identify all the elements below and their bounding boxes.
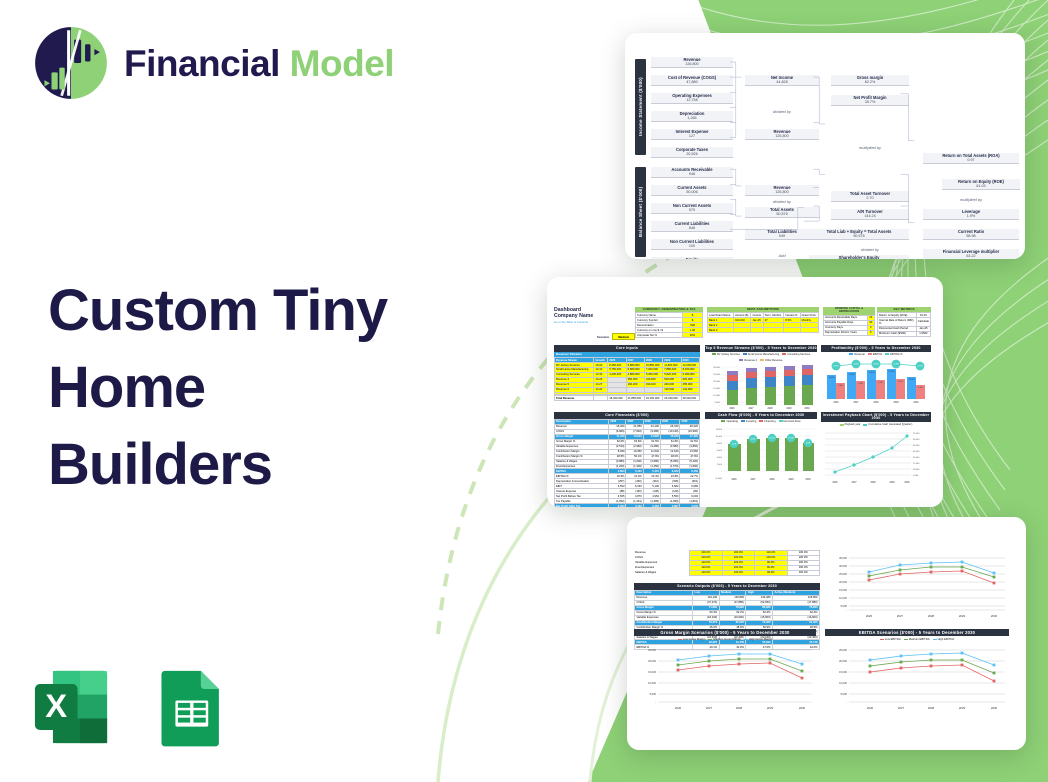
gross-margin-scenarios-chart: Gross Margin Scenarios ($'000) - 5 Years… (634, 629, 816, 717)
row-label: Net Profit After Tax (555, 504, 609, 507)
svg-text:4,404: 4,404 (732, 443, 737, 445)
working-capital-panel: WORKING CAPITAL & DEPRECIATION Accounts … (823, 307, 875, 336)
scenario-inputs-table: Revenue 100.0% 100.0% 110.0% 100.0% COGS… (634, 550, 820, 576)
svg-text:28,320: 28,320 (909, 379, 915, 381)
gross-margin-plot: 25,00020,00015,000 10,0005,000- 20262027… (634, 642, 816, 712)
svg-text:20.9%: 20.9% (833, 365, 839, 367)
svg-text:5,000: 5,000 (650, 692, 657, 696)
row-value: 3,409 (626, 504, 643, 507)
flow-box-return-on-equity: Return on Equity (ROE) 61.03 (942, 179, 1020, 190)
row-value: 3,466 (643, 504, 660, 507)
key-metrics-panel: KEY METRICS Return on Equity (ROE)61.03 … (877, 307, 931, 337)
svg-text:-: - (846, 701, 847, 704)
svg-text:5,000: 5,000 (841, 692, 848, 696)
brand-name: Financial Model (124, 45, 394, 82)
svg-text:15,000: 15,000 (648, 670, 656, 674)
row-value: 2,453 (609, 504, 626, 507)
svg-text:2030: 2030 (805, 479, 811, 481)
svg-text:12,000: 12,000 (716, 429, 723, 431)
row-value: 3,887 (660, 504, 680, 507)
svg-text:2026: 2026 (675, 706, 682, 710)
brand-name-part2: Model (290, 43, 394, 84)
scenario-selector[interactable]: Scenario Medium (597, 333, 635, 340)
svg-text:2029: 2029 (959, 614, 966, 618)
revenue-streams-chart: Top 5 Revenue Streams ($'000) - 5 Years … (705, 345, 817, 416)
svg-text:2026: 2026 (729, 408, 735, 410)
svg-text:21,850: 21,850 (849, 374, 855, 376)
svg-text:(2,000): (2,000) (715, 478, 722, 480)
svg-text:22.8%: 22.8% (893, 363, 899, 365)
flow-operator: Add (745, 253, 819, 258)
svg-text:54,000: 54,000 (913, 445, 920, 447)
svg-text:6,450: 6,450 (918, 387, 923, 389)
svg-text:27,000: 27,000 (913, 463, 920, 465)
svg-text:20,000: 20,000 (839, 659, 847, 663)
svg-text:20,000: 20,000 (713, 381, 720, 383)
svg-text:4,338: 4,338 (806, 442, 811, 444)
svg-text:20,000: 20,000 (839, 580, 847, 584)
svg-text:10,000: 10,000 (648, 681, 656, 685)
svg-text:5,000: 5,000 (715, 402, 721, 404)
svg-text:45,000: 45,000 (913, 451, 920, 453)
table-row: Net Profit After Tax2,4533,4093,4663,887… (555, 504, 700, 507)
svg-text:2028: 2028 (870, 482, 876, 484)
svg-text:-: - (655, 701, 656, 704)
cash-flow-chart: Cash Flow ($'000) - 5 Years to December … (705, 412, 817, 489)
svg-text:2030: 2030 (799, 706, 806, 710)
svg-text:2029: 2029 (786, 408, 792, 410)
svg-text:22.4%: 22.4% (873, 363, 879, 365)
dashboard-sheet: Dashboard Company Name Go to the Table o… (547, 277, 943, 507)
working-capital-table: Accounts Receivable Days15 Accounts Paya… (823, 315, 875, 336)
dashboard-screenshot[interactable]: Dashboard Company Name Go to the Table o… (547, 277, 943, 507)
svg-text:15,438: 15,438 (788, 437, 794, 439)
svg-text:20,000: 20,000 (648, 659, 656, 663)
scenario-value[interactable]: Medium (612, 333, 635, 340)
row-value: 4,202 (680, 504, 700, 507)
flowchart-canvas: Income Statement ($'000) Balance Sheet (… (635, 57, 1015, 237)
flow-box: Non Current Liabilities 100 (651, 239, 733, 250)
svg-text:6,020: 6,020 (898, 381, 903, 383)
currency-panel: CURRENCY, DENOMINATION & TAX Currency Na… (635, 307, 703, 338)
svg-text:2027: 2027 (748, 408, 754, 410)
svg-text:15,000: 15,000 (839, 588, 847, 592)
flow-box: Financial Leverage multiplier 63.22 (923, 249, 1019, 259)
svg-text:8,000: 8,000 (717, 443, 723, 445)
svg-text:22.7%: 22.7% (917, 365, 923, 367)
svg-text:2026: 2026 (833, 402, 839, 404)
svg-text:10,000: 10,000 (716, 436, 723, 438)
svg-text:2029: 2029 (959, 706, 966, 710)
svg-text:10,000: 10,000 (713, 395, 720, 397)
svg-text:18,000: 18,000 (913, 469, 920, 471)
ebitda-plot: 25,00020,00015,000 10,0005,000- 20262027… (825, 642, 1009, 712)
svg-text:2029: 2029 (788, 479, 794, 481)
ebitda-scenarios-chart: EBITDA Scenarios ($'000) - 5 Years to De… (825, 629, 1009, 717)
scenarios-screenshot[interactable]: Revenue 100.0% 100.0% 110.0% 100.0% COGS… (627, 517, 1026, 750)
revenue-scenarios-chart: 35,00030,00025,000 20,00015,00010,000 5,… (827, 550, 1009, 625)
svg-text:15,000: 15,000 (713, 388, 720, 390)
svg-text:24.3%: 24.3% (853, 363, 859, 365)
svg-text:4,000: 4,000 (717, 457, 723, 459)
svg-text:2027: 2027 (898, 706, 905, 710)
svg-text:2027: 2027 (897, 614, 904, 618)
svg-text:2029: 2029 (893, 402, 899, 404)
svg-text:10,000: 10,000 (839, 596, 847, 600)
svg-text:18,400: 18,400 (829, 377, 835, 379)
svg-text:2028: 2028 (767, 408, 773, 410)
microsoft-excel-icon: X (30, 666, 112, 748)
headline-line-2: Home (48, 349, 468, 426)
svg-text:2027: 2027 (706, 706, 713, 710)
table-of-contents-link[interactable]: Go to the Table of Contents (554, 320, 593, 324)
svg-text:-: - (719, 405, 720, 407)
revenue-streams-plot: 30,00025,00020,000 15,00010,0005,000 - 2… (705, 363, 817, 411)
profitability-plot: 20.9%24.3%22.4% 22.8%22.7% 18,4003,850 2… (821, 357, 931, 405)
svg-text:30,000: 30,000 (839, 564, 847, 568)
debt-table: Loan/Grant Name Amount ($) Counts Term, … (707, 312, 819, 333)
svg-text:2029: 2029 (889, 482, 895, 484)
debt-panel: DEBT ASSUMPTIONS Loan/Grant Name Amount … (707, 307, 819, 333)
svg-text:9,000: 9,000 (913, 475, 919, 477)
svg-text:30,000: 30,000 (713, 367, 720, 369)
svg-text:2028: 2028 (928, 706, 935, 710)
svg-text:8,104: 8,104 (751, 438, 756, 440)
svg-text:26,340: 26,340 (889, 371, 895, 373)
core-financials-rows: Revenue18,40021,85024,10026,34028,320COG… (555, 424, 700, 507)
pie-bars-circle-logo-icon (32, 24, 110, 102)
svg-text:2030: 2030 (991, 706, 998, 710)
core-financials-block: Core Financials ($'000) Description 2026… (554, 412, 700, 507)
svg-text:2028: 2028 (769, 479, 775, 481)
svg-text:2026: 2026 (731, 479, 737, 481)
svg-text:2027: 2027 (851, 482, 857, 484)
svg-text:2026: 2026 (832, 482, 838, 484)
svg-text:2030: 2030 (804, 408, 810, 410)
flow-connectors (635, 57, 1015, 237)
svg-text:5,000: 5,000 (841, 604, 848, 608)
svg-text:3,850: 3,850 (838, 385, 843, 387)
brand-logo: Financial Model (32, 24, 394, 102)
svg-text:5,410: 5,410 (878, 382, 883, 384)
svg-text:24,100: 24,100 (869, 372, 875, 374)
svg-text:2028: 2028 (736, 706, 743, 710)
svg-text:25,000: 25,000 (713, 374, 720, 376)
core-inputs-block: Core Inputs Revenue Streams Revenue Stre… (554, 345, 700, 401)
flow-operator: divided by (831, 247, 909, 252)
core-financials-table: Description 2026 2027 2028 2029 2030 Rev… (554, 419, 700, 507)
chart-legend: RV Jockey Services Small Home Manufactur… (705, 352, 817, 363)
investment-payback-plot: 72,00063,00054,000 45,00036,00027,000 18… (821, 427, 931, 487)
svg-text:63,000: 63,000 (913, 439, 920, 441)
brand-name-part1: Financial (124, 43, 280, 84)
svg-text:2028: 2028 (873, 402, 879, 404)
svg-text:5,320: 5,320 (858, 383, 863, 385)
svg-text:2030: 2030 (991, 614, 998, 618)
cash-flow-plot: 12,00010,0008,000 6,0004,0002,000 -(2,00… (705, 424, 817, 484)
flow-box: Equity 49,628 (651, 257, 733, 259)
svg-text:2028: 2028 (928, 614, 935, 618)
file-format-icons: X (30, 666, 232, 748)
svg-text:6,000: 6,000 (717, 450, 723, 452)
svg-text:X: X (45, 687, 67, 724)
svg-text:11,413: 11,413 (769, 437, 774, 439)
dupont-flowchart-screenshot[interactable]: Income Statement ($'000) Balance Sheet (… (625, 33, 1025, 259)
profitability-chart: Profitability ($'000) - 5 Years to Decem… (821, 345, 931, 410)
svg-text:72,000: 72,000 (913, 433, 920, 435)
google-sheets-icon (150, 666, 232, 748)
headline-line-3: Builders (48, 426, 468, 503)
page-title: Custom Tiny Home Builders (48, 272, 468, 503)
svg-text:10,000: 10,000 (839, 681, 847, 685)
key-metrics-table: Return on Equity (ROE)61.03 Internal Rat… (877, 312, 931, 336)
svg-text:2027: 2027 (853, 402, 859, 404)
core-inputs-table: Revenue Stream Growth 2026 2027 2028 202… (554, 357, 700, 401)
flow-box: Shareholder's Equity 800 (809, 255, 909, 259)
svg-text:2030: 2030 (913, 402, 919, 404)
revenue-scenarios-plot: 35,00030,00025,000 20,00015,00010,000 5,… (827, 550, 1009, 620)
currency-table: Currency Name$ Currency Symbol$ Denomina… (635, 312, 703, 338)
poster-canvas: Financial Model Custom Tiny Home Builder… (0, 0, 1048, 782)
headline-line-1: Custom Tiny (48, 272, 468, 349)
svg-text:-: - (721, 471, 722, 473)
svg-text:15,000: 15,000 (839, 670, 847, 674)
svg-text:25,000: 25,000 (839, 648, 847, 652)
investment-payback-chart: Investment Payback Chart ($'000) - 5 Yea… (821, 412, 931, 492)
svg-text:25,000: 25,000 (839, 572, 847, 576)
svg-text:2027: 2027 (750, 479, 756, 481)
svg-text:2,000: 2,000 (717, 464, 723, 466)
svg-text:35,000: 35,000 (839, 556, 847, 560)
svg-text:-: - (846, 609, 847, 612)
svg-text:36,000: 36,000 (913, 457, 920, 459)
svg-text:2029: 2029 (767, 706, 774, 710)
svg-text:2030: 2030 (904, 482, 910, 484)
svg-text:2026: 2026 (867, 706, 874, 710)
scenarios-sheet: Revenue 100.0% 100.0% 110.0% 100.0% COGS… (627, 517, 1026, 750)
dashboard-header: Dashboard Company Name Go to the Table o… (554, 307, 593, 324)
svg-text:25,000: 25,000 (648, 648, 656, 652)
svg-text:2026: 2026 (866, 614, 873, 618)
scenario-inputs-block: Revenue 100.0% 100.0% 110.0% 100.0% COGS… (634, 550, 820, 576)
